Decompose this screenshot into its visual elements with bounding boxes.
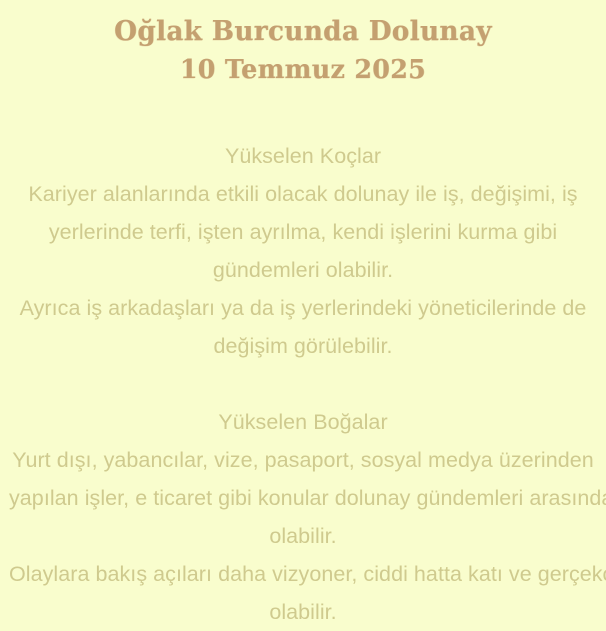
section-aries-line-4: Ayrıca iş arkadaşları ya da iş yerlerind…	[9, 289, 597, 327]
section-taurus-line-1: Yurt dışı, yabancılar, vize, pasaport, s…	[9, 441, 597, 479]
section-taurus-line-3: olabilir.	[9, 517, 597, 555]
title-line-date: 10 Temmuz 2025	[9, 52, 597, 88]
section-taurus: Yükselen Boğalar Yurt dışı, yabancılar, …	[9, 403, 597, 631]
section-heading-aries: Yükselen Koçlar	[9, 137, 597, 175]
section-heading-taurus: Yükselen Boğalar	[9, 403, 597, 441]
horoscope-poster: Oğlak Burcunda Dolunay 10 Temmuz 2025 Yü…	[0, 0, 606, 530]
section-aries: Yükselen Koçlar Kariyer alanlarında etki…	[9, 137, 597, 365]
section-taurus-line-4: Olaylara bakış açıları daha vizyoner, ci…	[9, 555, 597, 593]
title-line-primary: Oğlak Burcunda Dolunay	[9, 14, 597, 50]
section-aries-line-3: gündemleri olabilir.	[9, 251, 597, 289]
section-taurus-line-5: olabilir.	[9, 593, 597, 631]
section-aries-line-2: yerlerinde terfi, işten ayrılma, kendi i…	[9, 213, 597, 251]
section-aries-line-5: değişim görülebilir.	[9, 327, 597, 365]
section-taurus-line-2: yapılan işler, e ticaret gibi konular do…	[9, 479, 597, 517]
section-aries-line-1: Kariyer alanlarında etkili olacak doluna…	[9, 175, 597, 213]
poster-title: Oğlak Burcunda Dolunay 10 Temmuz 2025	[0, 14, 606, 88]
poster-body: Yükselen Koçlar Kariyer alanlarında etki…	[9, 137, 597, 631]
